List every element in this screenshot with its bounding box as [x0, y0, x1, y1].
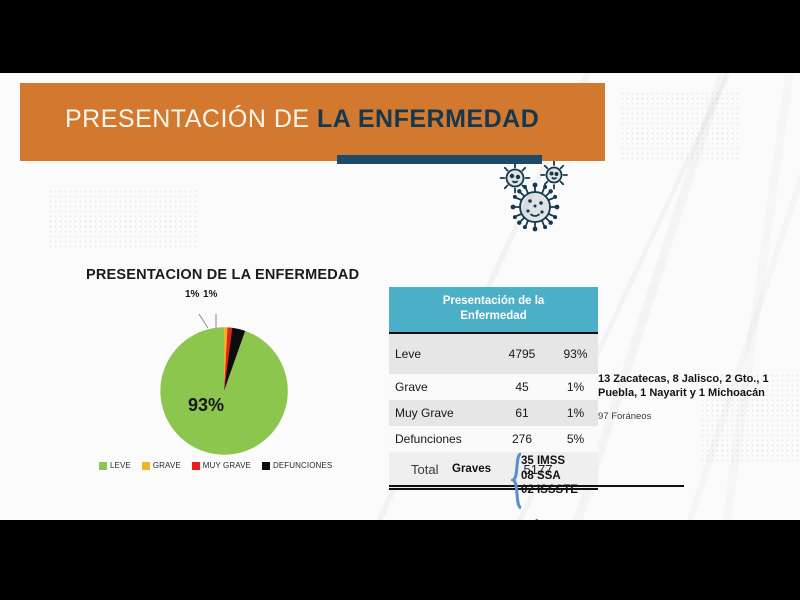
- pie-chart: [86, 288, 356, 458]
- cell-categoria: Defunciones: [389, 432, 491, 446]
- table-row: Leve 4795 93%: [389, 334, 598, 374]
- legend-swatch-grave: [142, 462, 150, 470]
- chart-title: PRESENTACION DE LA ENFERMEDAD: [86, 267, 359, 283]
- table-row: Defunciones 276 5%: [389, 426, 598, 452]
- title-banner: PRESENTACIÓN DE LA ENFERMEDAD: [20, 83, 605, 161]
- cell-casos: 45: [491, 380, 553, 394]
- cell-casos: 276: [491, 432, 553, 446]
- slide-viewer: PRESENTACIÓN DE LA ENFERMEDAD: [0, 0, 800, 600]
- pie-label-muy-grave: 1%: [203, 289, 217, 300]
- legend-swatch-leve: [99, 462, 107, 470]
- cell-categoria: Muy Grave: [389, 406, 491, 420]
- cell-casos: 61: [491, 406, 553, 420]
- decorative-dots: [620, 91, 740, 161]
- table-row: Muy Grave 61 1%: [389, 400, 598, 426]
- cell-porcentaje: 1%: [553, 406, 598, 420]
- cell-porcentaje: 93%: [553, 347, 598, 361]
- legend-swatch-defunciones: [262, 462, 270, 470]
- graves-item: 35 IMSS: [521, 454, 578, 469]
- page-title: PRESENTACIÓN DE LA ENFERMEDAD: [65, 105, 539, 134]
- virus-icon: [497, 161, 577, 233]
- annotation-graves-list: 35 IMSS 08 SSA 02 ISSSTE: [521, 454, 578, 498]
- slide-canvas: PRESENTACIÓN DE LA ENFERMEDAD: [0, 73, 800, 520]
- page-title-bold: LA ENFERMEDAD: [317, 105, 539, 133]
- annotation-states: 13 Zacatecas, 8 Jalisco, 2 Gto., 1 Puebl…: [598, 373, 798, 401]
- page-title-light: PRESENTACIÓN DE: [65, 105, 317, 133]
- pie-chart-svg: [136, 298, 316, 468]
- cell-porcentaje: 1%: [553, 380, 598, 394]
- decorative-dots: [48, 189, 198, 249]
- cell-categoria: Grave: [389, 380, 491, 394]
- cell-casos: 4795: [491, 348, 553, 361]
- legend-item-grave: GRAVE: [142, 461, 181, 470]
- legend-label-muy-grave: MUY GRAVE: [203, 461, 251, 470]
- pie-label-leve: 93%: [188, 395, 224, 416]
- legend-swatch-muy-grave: [192, 462, 200, 470]
- leader-line-grave: [199, 314, 208, 328]
- pie-slices: [160, 327, 287, 454]
- legend-item-muy-grave: MUY GRAVE: [192, 461, 251, 470]
- legend-item-defunciones: DEFUNCIONES: [262, 461, 332, 470]
- pie-label-grave: 1%: [185, 289, 199, 300]
- table-row: Grave 45 1%: [389, 374, 598, 400]
- chart-legend: LEVE GRAVE MUY GRAVE DEFUNCIONES: [99, 461, 332, 470]
- table-header: Presentación de la Enfermedad: [389, 287, 598, 334]
- legend-item-leve: LEVE: [99, 461, 131, 470]
- legend-label-leve: LEVE: [110, 461, 131, 470]
- cell-porcentaje: 5%: [553, 432, 598, 446]
- legend-label-defunciones: DEFUNCIONES: [273, 461, 332, 470]
- graves-item: 08 SSA: [521, 469, 578, 484]
- brace-muy-graves: [528, 518, 542, 520]
- annotation-foraneos: 97 Foráneos: [598, 411, 651, 422]
- cell-categoria: Leve: [389, 347, 491, 361]
- graves-item: 02 ISSSTE: [521, 483, 578, 498]
- annotation-graves-label: Graves: [452, 463, 491, 475]
- legend-label-grave: GRAVE: [153, 461, 181, 470]
